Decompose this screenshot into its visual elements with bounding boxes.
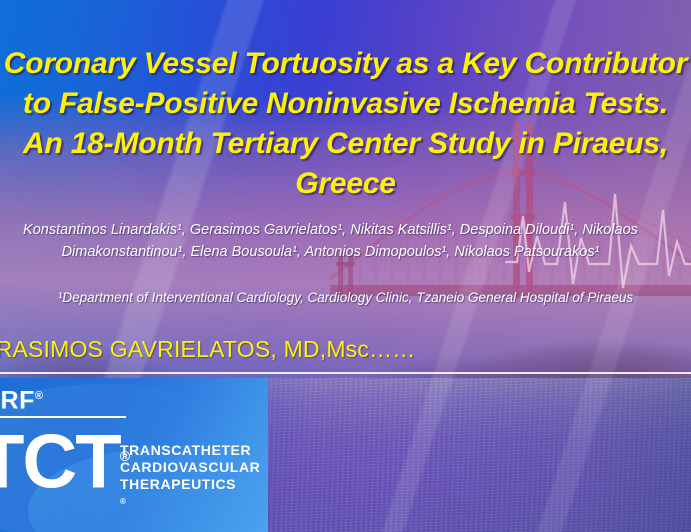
- affiliation-line: ¹Department of Interventional Cardiology…: [0, 288, 691, 307]
- tct-wordmark: TRANSCATHETER CARDIOVASCULAR THERAPEUTIC…: [120, 442, 260, 510]
- title-line-2: to False-Positive Noninvasive Ischemia T…: [0, 84, 691, 124]
- presentation-title-slide: Coronary Vessel Tortuosity as a Key Cont…: [0, 0, 691, 532]
- crf-registered-mark: ®: [35, 390, 44, 402]
- title-line-4: Greece: [0, 164, 691, 204]
- author-line-1: Konstantinos Linardakis¹, Gerasimos Gavr…: [0, 219, 691, 241]
- horizontal-divider: [0, 372, 691, 374]
- author-list: Konstantinos Linardakis¹, Gerasimos Gavr…: [0, 219, 691, 263]
- tct-logo-text: TCT: [0, 419, 120, 504]
- tct-logo: TCT®: [0, 416, 130, 502]
- author-line-2: Dimakonstantinou¹, Elena Bousoula¹, Anto…: [0, 241, 691, 263]
- wordmark-line-3-text: THERAPEUTICS: [120, 476, 260, 493]
- wordmark-line-1: TRANSCATHETER: [120, 442, 260, 459]
- crf-logo-text: CRF: [0, 386, 35, 414]
- title-line-1: Coronary Vessel Tortuosity as a Key Cont…: [0, 44, 691, 84]
- page-title: Coronary Vessel Tortuosity as a Key Cont…: [0, 44, 691, 204]
- wordmark-line-2: CARDIOVASCULAR: [120, 459, 260, 476]
- presenter-name: GERASIMOS GAVRIELATOS, MD,Msc……: [0, 334, 416, 364]
- wordmark-line-3: THERAPEUTICS®: [120, 476, 260, 510]
- tct-logo-panel: CRF® TCT® TRANSCATHETER CARDIOVASCULAR T…: [0, 378, 268, 532]
- title-line-3: An 18-Month Tertiary Center Study in Pir…: [0, 124, 691, 164]
- crf-logo: CRF®: [0, 382, 44, 414]
- wordmark-registered-mark: ®: [120, 493, 260, 510]
